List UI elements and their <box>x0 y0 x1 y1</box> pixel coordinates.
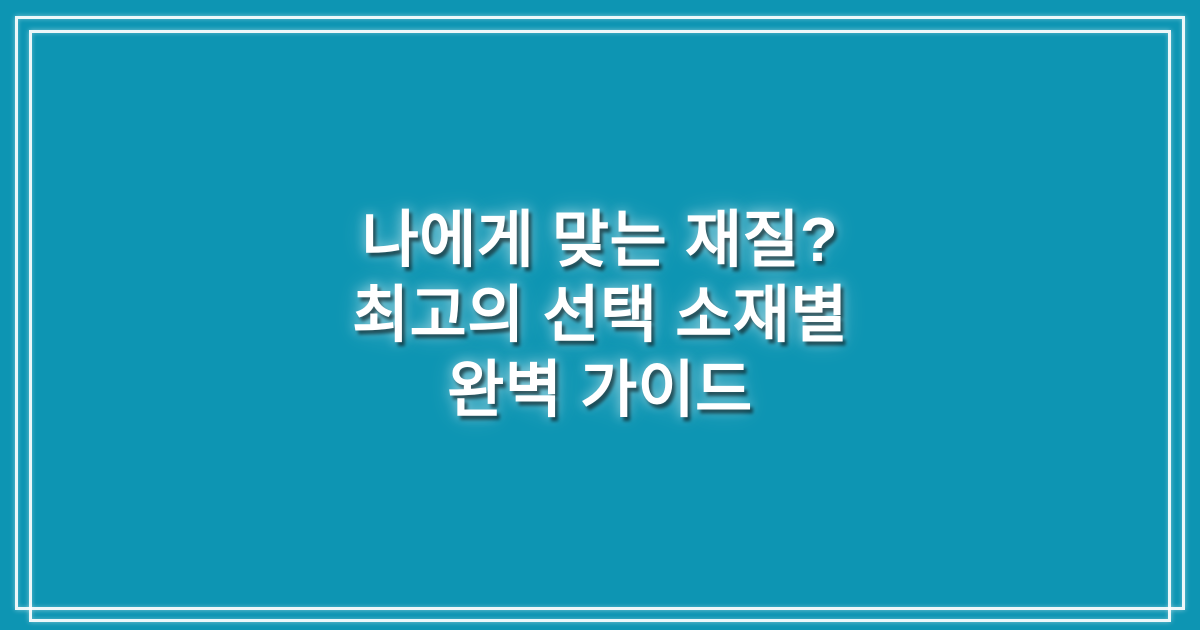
title-line-3: 완벽 가이드 <box>0 353 1200 428</box>
title-line-2: 최고의 선택 소재별 <box>0 278 1200 353</box>
title-block: 나에게 맞는 재질? 최고의 선택 소재별 완벽 가이드 <box>0 0 1200 630</box>
thumbnail-canvas: 나에게 맞는 재질? 최고의 선택 소재별 완벽 가이드 <box>0 0 1200 630</box>
title-line-1: 나에게 맞는 재질? <box>0 203 1200 278</box>
